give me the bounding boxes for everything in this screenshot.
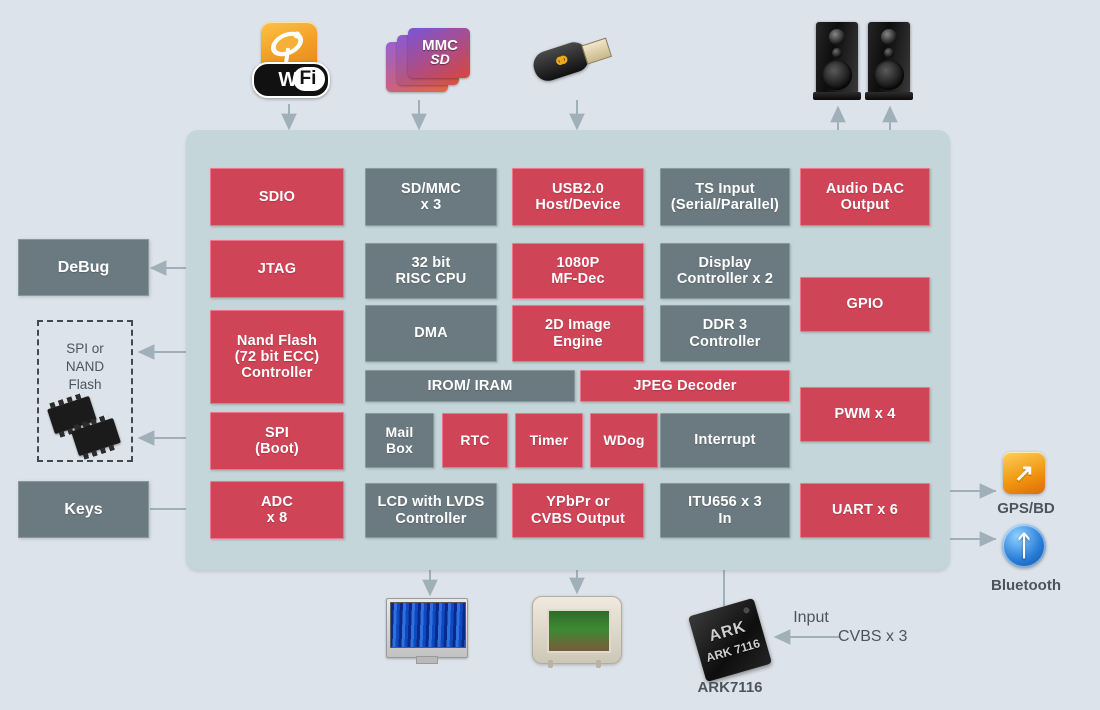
block-sdmmc-line1: SD/MMC (397, 181, 465, 197)
block-lcd-line2: Controller (391, 511, 470, 527)
sd-card-icon: MMC SD (386, 26, 482, 96)
block-nand-line3: Controller (237, 365, 316, 381)
speaker-mid (884, 48, 894, 58)
block-uart-label: UART x 6 (828, 502, 902, 518)
wifi-icon: Wi Fi (252, 22, 326, 100)
sd-card-label: MMC SD (412, 32, 468, 74)
block-sdmmc-line2: x 3 (417, 197, 446, 213)
block-pwm[interactable]: PWM x 4 (800, 387, 930, 442)
speakers-icon-right (868, 22, 910, 104)
block-ypbpr-cvbs-output[interactable]: YPbPr or CVBS Output (512, 483, 644, 538)
block-usb-line1: USB2.0 (548, 181, 608, 197)
block-gpio[interactable]: GPIO (800, 277, 930, 332)
block-wdog-label: WDog (599, 433, 648, 449)
block-rtc[interactable]: RTC (442, 413, 508, 468)
block-uart[interactable]: UART x 6 (800, 483, 930, 538)
block-mfdec-line1: 1080P (553, 255, 604, 271)
block-nand-line1: Nand Flash (233, 333, 321, 349)
peripheral-keys[interactable]: Keys (18, 481, 149, 538)
soc-container: SDIO JTAG Nand Flash (72 bit ECC) Contro… (186, 130, 950, 570)
gps-caption: GPS/BD (976, 500, 1076, 517)
block-wdog[interactable]: WDog (590, 413, 658, 468)
block-spi-line1: SPI (261, 425, 293, 441)
bluetooth-glyph: ᛏ (1002, 524, 1046, 568)
block-usb-line2: Host/Device (531, 197, 624, 213)
block-mfdec-line2: MF-Dec (547, 271, 609, 287)
block-spi-line2: (Boot) (251, 441, 303, 457)
block-timer-label: Timer (526, 433, 573, 449)
speaker-woofer (822, 60, 852, 90)
block-mailbox-line2: Box (382, 441, 417, 457)
block-jtag[interactable]: JTAG (210, 240, 344, 298)
block-display-line2: Controller x 2 (673, 271, 777, 287)
block-spi-boot[interactable]: SPI (Boot) (210, 412, 344, 470)
peripheral-debug-label: DeBug (58, 259, 110, 277)
block-pwm-label: PWM x 4 (830, 406, 899, 422)
block-risc-cpu[interactable]: 32 bit RISC CPU (365, 243, 497, 299)
block-rtc-label: RTC (456, 433, 493, 449)
block-ddr3-line2: Controller (685, 334, 764, 350)
lcd-stand (416, 656, 438, 664)
block-irom-iram[interactable]: IROM/ IRAM (365, 370, 575, 402)
ark-chip-caption: ARK7116 (676, 679, 784, 696)
block-dma[interactable]: DMA (365, 305, 497, 362)
block-lcd-lvds-controller[interactable]: LCD with LVDS Controller (365, 483, 497, 538)
wifi-badge-fi: Fi (296, 67, 320, 91)
usb-plug (581, 38, 612, 65)
block-audio-dac-output[interactable]: Audio DAC Output (800, 168, 930, 226)
block-ypbpr-line2: CVBS Output (527, 511, 629, 527)
block-mailbox-line1: Mail (381, 425, 417, 441)
diagram-canvas: Wi Fi MMC SD ⚭ DeBug SPI or (0, 0, 1100, 710)
block-irom-iram-label: IROM/ IRAM (424, 378, 517, 394)
wifi-badge: Wi Fi (252, 62, 330, 98)
block-usb20[interactable]: USB2.0 Host/Device (512, 168, 644, 226)
headrest-monitor-icon (532, 596, 620, 666)
flash-group-line2: NAND (39, 358, 131, 376)
speaker-tweeter (829, 29, 845, 45)
peripheral-keys-label: Keys (64, 501, 102, 519)
usb-drive-icon: ⚭ (526, 19, 626, 106)
speaker-tweeter (881, 29, 897, 45)
block-sd-mmc[interactable]: SD/MMC x 3 (365, 168, 497, 226)
ark-chip-icon: ARK ARK 7116 (690, 600, 770, 680)
block-adc-line2: x 8 (263, 510, 292, 526)
block-display-controller[interactable]: Display Controller x 2 (660, 243, 790, 299)
block-1080p-mf-dec[interactable]: 1080P MF-Dec (512, 243, 644, 299)
block-ddr3-line1: DDR 3 (699, 317, 752, 333)
block-jpeg-label: JPEG Decoder (629, 378, 740, 394)
block-sdio[interactable]: SDIO (210, 168, 344, 226)
block-audiodac-line1: Audio DAC (822, 181, 908, 197)
block-timer[interactable]: Timer (515, 413, 583, 468)
lcd-monitor-icon (386, 598, 466, 664)
block-adc[interactable]: ADC x 8 (210, 481, 344, 539)
speakers-icon (816, 22, 858, 104)
block-display-line1: Display (695, 255, 756, 271)
block-nand-line2: (72 bit ECC) (231, 349, 324, 365)
lcd-frame (386, 598, 468, 658)
gps-glyph: ↗ (1003, 452, 1045, 494)
block-risc-line1: 32 bit (407, 255, 454, 271)
block-ypbpr-line1: YPbPr or (542, 494, 614, 510)
block-mail-box[interactable]: Mail Box (365, 413, 434, 468)
block-itu656[interactable]: ITU656 x 3 In (660, 483, 790, 538)
block-ts-input[interactable]: TS Input (Serial/Parallel) (660, 168, 790, 226)
peripheral-debug[interactable]: DeBug (18, 239, 149, 296)
headrest-shell (532, 596, 622, 664)
block-ts-line2: (Serial/Parallel) (667, 197, 783, 213)
block-itu656-line1: ITU656 x 3 (684, 494, 766, 510)
block-ts-line1: TS Input (691, 181, 759, 197)
speaker-base (813, 92, 861, 100)
flash-group-label: SPI or NAND Flash (39, 340, 131, 395)
block-ddr3-controller[interactable]: DDR 3 Controller (660, 305, 790, 362)
bluetooth-icon: ᛏ (1002, 524, 1046, 568)
usb-trident-glyph: ⚭ (540, 43, 584, 79)
block-nand-flash-controller[interactable]: Nand Flash (72 bit ECC) Controller (210, 310, 344, 404)
block-adc-line1: ADC (257, 494, 297, 510)
gps-icon: ↗ (1003, 452, 1045, 494)
headrest-screen (547, 609, 611, 653)
cvbs-signal-label: CVBS x 3 (838, 628, 946, 646)
block-interrupt[interactable]: Interrupt (660, 413, 790, 468)
block-jpeg-decoder[interactable]: JPEG Decoder (580, 370, 790, 402)
block-2d-line1: 2D Image (541, 317, 615, 333)
ark-chip-marking: ARK ARK 7116 (692, 611, 769, 669)
block-interrupt-label: Interrupt (690, 432, 759, 448)
block-risc-line2: RISC CPU (392, 271, 471, 287)
block-lcd-line1: LCD with LVDS (373, 494, 488, 510)
speaker-base (865, 92, 913, 100)
bluetooth-caption: Bluetooth (966, 577, 1086, 594)
block-gpio-label: GPIO (842, 296, 887, 312)
headrest-leg-right (596, 660, 601, 668)
block-sdio-label: SDIO (255, 189, 299, 205)
ark-chip-package: ARK ARK 7116 (688, 598, 772, 682)
flash-group-line3: Flash (39, 376, 131, 394)
block-2d-line2: Engine (549, 334, 607, 350)
block-dma-label: DMA (410, 325, 452, 341)
block-audiodac-line2: Output (837, 197, 894, 213)
cvbs-input-label: Input (772, 609, 850, 627)
block-itu656-line2: In (714, 511, 735, 527)
block-2d-image-engine[interactable]: 2D Image Engine (512, 305, 644, 362)
speaker-woofer (874, 60, 904, 90)
speaker-mid (832, 48, 842, 58)
sd-card-label-sd: SD (430, 53, 449, 66)
headrest-leg-left (548, 660, 553, 668)
flash-group-line1: SPI or (39, 340, 131, 358)
block-jtag-label: JTAG (254, 261, 300, 277)
lcd-screen (390, 602, 466, 648)
